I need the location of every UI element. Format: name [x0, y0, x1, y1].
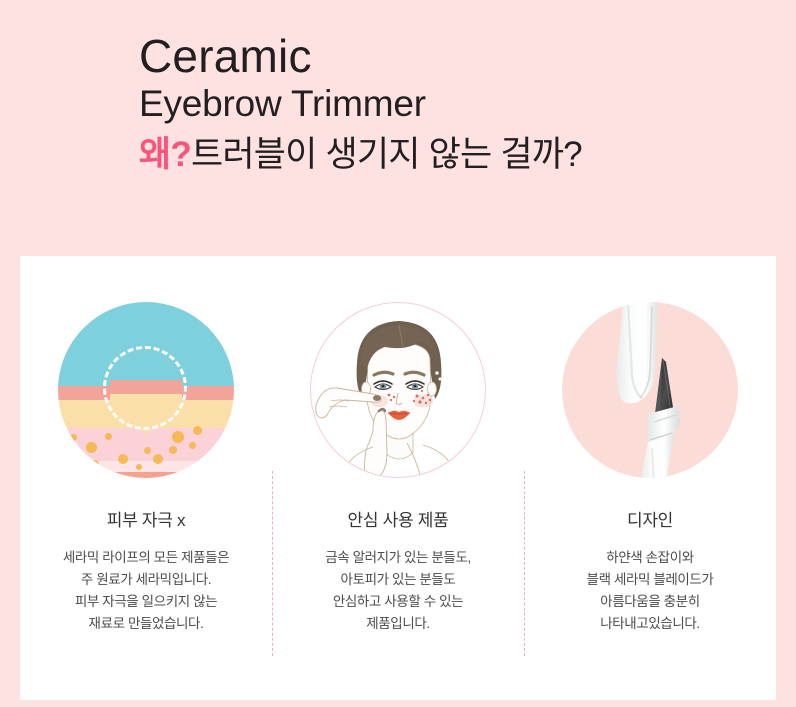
feature-body-line: 세라믹 라이프의 모든 제품들은 [63, 547, 229, 569]
zoom-highlight-ring [103, 346, 187, 430]
feature-body-line: 블랙 세라믹 블레이드가 [587, 569, 714, 591]
feature-column-1: 피부 자극 x 세라믹 라이프의 모든 제품들은 주 원료가 세라믹입니다. 피… [20, 256, 272, 700]
feature-body-line: 아름다움을 충분히 [587, 591, 714, 613]
feature-column-3: 디자인 하얀색 손잡이와 블랙 세라믹 블레이드가 아름다움을 충분히 나타내고… [524, 256, 776, 700]
feature-body-3: 하얀색 손잡이와 블랙 세라믹 블레이드가 아름다움을 충분히 나타내고있습니다… [587, 547, 714, 635]
feature-body-line: 피부 자극을 일으키지 않는 [63, 591, 229, 613]
feature-body-line: 금속 알러지가 있는 분들도, [325, 547, 471, 569]
feature-body-line: 하얀색 손잡이와 [587, 547, 714, 569]
skin-cross-section-icon [58, 302, 234, 478]
headline-korean: 왜?트러블이 생기지 않는 걸까? [139, 131, 796, 179]
feature-body-line: 재료로 만들었습니다. [63, 613, 229, 635]
headline-accent: 왜? [139, 135, 191, 174]
woman-face-icon [310, 302, 486, 478]
headline-rest: 트러블이 생기지 않는 걸까? [191, 135, 582, 174]
feature-body-1: 세라믹 라이프의 모든 제품들은 주 원료가 세라믹입니다. 피부 자극을 일으… [63, 547, 229, 635]
feature-title-3: 디자인 [627, 510, 673, 532]
feature-columns: 피부 자극 x 세라믹 라이프의 모든 제품들은 주 원료가 세라믹입니다. 피… [20, 256, 776, 700]
ceramic-blade-icon [562, 302, 738, 478]
feature-body-line: 나타내고있습니다. [587, 613, 714, 635]
feature-body-line: 제품입니다. [325, 613, 471, 635]
feature-title-2: 안심 사용 제품 [348, 510, 449, 532]
feature-body-2: 금속 알러지가 있는 분들도, 아토피가 있는 분들도 안심하고 사용할 수 있… [325, 547, 471, 635]
feature-body-line: 아토피가 있는 분들도 [325, 569, 471, 591]
feature-body-line: 주 원료가 세라믹입니다. [63, 569, 229, 591]
feature-title-1: 피부 자극 x [107, 510, 185, 532]
page-header: Ceramic Eyebrow Trimmer 왜?트러블이 생기지 않는 걸까… [0, 0, 796, 256]
feature-card: 피부 자극 x 세라믹 라이프의 모든 제품들은 주 원료가 세라믹입니다. 피… [20, 256, 776, 700]
product-title-line1: Ceramic [139, 28, 796, 84]
product-title-line2: Eyebrow Trimmer [139, 82, 796, 126]
feature-column-2: 안심 사용 제품 금속 알러지가 있는 분들도, 아토피가 있는 분들도 안심하… [272, 256, 524, 700]
feature-body-line: 안심하고 사용할 수 있는 [325, 591, 471, 613]
